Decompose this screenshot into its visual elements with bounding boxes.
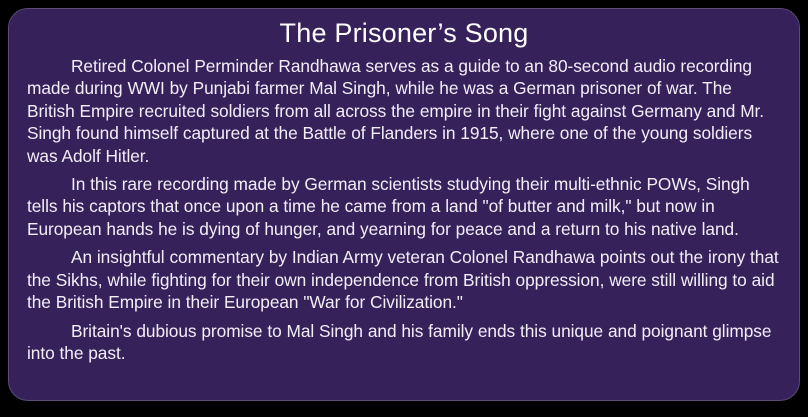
article-body: Retired Colonel Perminder Randhawa serve… xyxy=(9,55,799,364)
paragraph: Retired Colonel Perminder Randhawa serve… xyxy=(27,55,783,167)
paragraph: Britain's dubious promise to Mal Singh a… xyxy=(27,320,783,365)
description-card: The Prisoner’s Song Retired Colonel Perm… xyxy=(8,8,800,401)
page-title: The Prisoner’s Song xyxy=(9,9,799,55)
paragraph: In this rare recording made by German sc… xyxy=(27,173,783,240)
paragraph: An insightful commentary by Indian Army … xyxy=(27,246,783,313)
page-background: The Prisoner’s Song Retired Colonel Perm… xyxy=(0,0,808,417)
